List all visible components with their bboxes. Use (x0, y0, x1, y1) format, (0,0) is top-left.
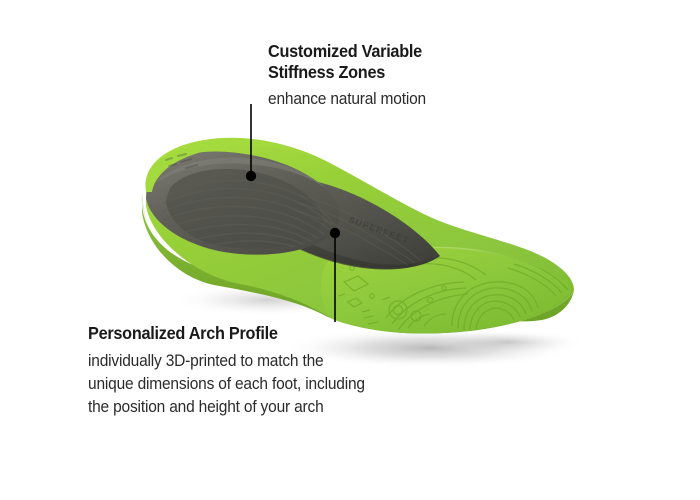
callout-stiffness-body: enhance natural motion (268, 88, 494, 111)
callout-stiffness-title: Customized Variable Stiffness Zones (268, 41, 491, 83)
insole-infographic: SUPERFEET Customized Variable Stiffness … (0, 0, 700, 500)
callout-arch-body: individually 3D-printed to match the uni… (88, 350, 408, 419)
callout-stiffness-zones: Customized Variable Stiffness Zones enha… (268, 41, 508, 111)
callout-arch-profile: Personalized Arch Profile individually 3… (88, 323, 428, 419)
callout-arch-title: Personalized Arch Profile (88, 323, 404, 344)
